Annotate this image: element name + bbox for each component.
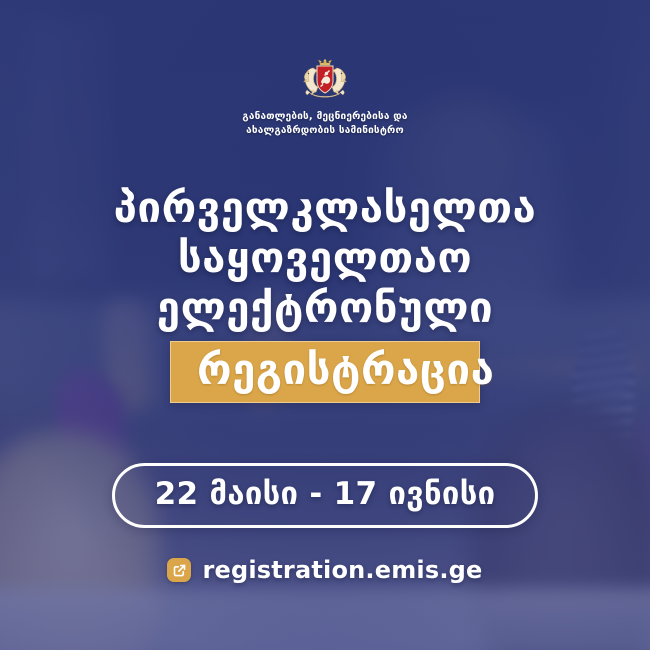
registration-highlight-box: რეგისტრაცია	[170, 341, 480, 403]
registration-url-text[interactable]: registration.emis.ge	[202, 556, 482, 584]
external-link-icon[interactable]	[167, 558, 191, 582]
georgian-coat-of-arms-icon	[298, 57, 352, 103]
date-range-badge: 22 მაისი - 17 ივნისი	[112, 463, 539, 528]
ministry-name-line2: ახალგაზრდობის სამინისტრო	[242, 124, 407, 138]
headline-line2: საყოველთაო	[114, 233, 537, 283]
registration-link[interactable]: registration.emis.ge	[167, 556, 482, 584]
page-title: პირველკლასელთა საყოველთაო ელექტრონული	[114, 183, 537, 333]
poster-content: განათლების, მეცნიერებისა და ახალგაზრდობი…	[0, 0, 650, 650]
headline-line3: ელექტრონული	[114, 283, 537, 333]
headline-line1: პირველკლასელთა	[114, 183, 537, 233]
registration-highlight-text: რეგისტრაცია	[197, 345, 494, 394]
poster: განათლების, მეცნიერებისა და ახალგაზრდობი…	[0, 0, 650, 650]
ministry-block: განათლების, მეცნიერებისა და ახალგაზრდობი…	[242, 57, 407, 137]
ministry-name-line1: განათლების, მეცნიერებისა და	[242, 110, 407, 124]
ministry-name: განათლების, მეცნიერებისა და ახალგაზრდობი…	[242, 110, 407, 137]
